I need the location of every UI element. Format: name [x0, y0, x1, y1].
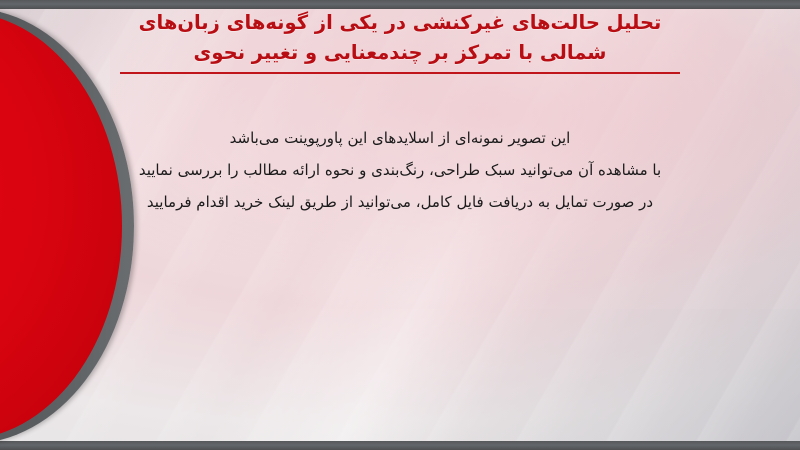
slide-body: این تصویر نمونه‌ای از اسلایدهای این پاور…	[110, 122, 690, 218]
slide-body-line-1: این تصویر نمونه‌ای از اسلایدهای این پاور…	[110, 122, 690, 154]
presentation-slide: تحلیل حالت‌های غیرکنشی در یکی از گونه‌ها…	[0, 0, 800, 450]
title-underline-rule	[120, 72, 680, 74]
slide-body-line-2: با مشاهده آن می‌توانید سبک طراحی، رنگ‌بن…	[110, 154, 690, 186]
bottom-gray-band	[0, 441, 800, 450]
slide-title: تحلیل حالت‌های غیرکنشی در یکی از گونه‌ها…	[120, 8, 680, 74]
slide-title-line-1: تحلیل حالت‌های غیرکنشی در یکی از گونه‌ها…	[120, 8, 680, 38]
slide-title-line-2: شمالی با تمرکز بر چندمعنایی و تغییر نحوی	[120, 38, 680, 68]
slide-body-line-3: در صورت تمایل به دریافت فایل کامل، می‌تو…	[110, 186, 690, 218]
